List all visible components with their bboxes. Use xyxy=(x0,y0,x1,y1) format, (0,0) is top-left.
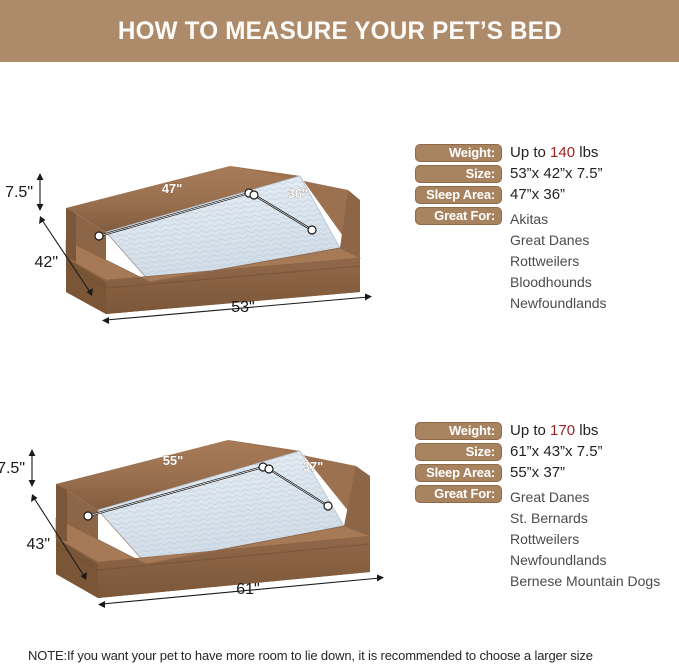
dim-inner-width-label: 47" xyxy=(162,181,183,196)
weight-suffix: lbs xyxy=(575,144,598,161)
product-block-large: 47" 36" 7.5" 42" 53" Weight: xyxy=(0,140,679,330)
spec-row-sleep-area: Sleep Area: 47”x 36” xyxy=(415,186,679,205)
breed-item: Rottweilers xyxy=(510,251,679,272)
spec-label-sleep-area: Sleep Area: xyxy=(415,186,502,204)
dim-inner-width-label: 55" xyxy=(163,453,184,468)
breed-item: Great Danes xyxy=(510,230,679,251)
spec-value-sleep-area: 55”x 37” xyxy=(510,464,565,482)
spec-label-weight: Weight: xyxy=(415,144,502,162)
spec-row-sleep-area: Sleep Area: 55”x 37” xyxy=(415,464,679,483)
spec-panel-large: Weight: Up to 140 lbs Size: 53”x 42”x 7.… xyxy=(415,144,679,314)
footer-note: NOTE:If you want your pet to have more r… xyxy=(28,648,593,663)
weight-prefix: Up to xyxy=(510,144,550,161)
breed-item: Great Danes xyxy=(510,487,679,508)
dim-height-label: 7.5" xyxy=(5,184,33,201)
breed-item: Rottweilers xyxy=(510,529,679,550)
dim-width-label: 61" xyxy=(236,581,259,598)
spec-row-weight: Weight: Up to 140 lbs xyxy=(415,144,679,163)
breed-item: St. Bernards xyxy=(510,508,679,529)
spec-label-size: Size: xyxy=(415,165,502,183)
spec-label-weight: Weight: xyxy=(415,422,502,440)
product-block-xlarge: 55" 37" 7.5" 43" 61" Weight: xyxy=(0,418,679,608)
dim-depth-label: 42" xyxy=(35,254,58,271)
breed-list-xlarge: Great Danes St. Bernards Rottweilers New… xyxy=(510,487,679,592)
spec-value-weight: Up to 140 lbs xyxy=(510,144,598,162)
weight-number: 140 xyxy=(550,144,575,161)
breed-item: Bloodhounds xyxy=(510,272,679,293)
spec-row-size: Size: 61”x 43”x 7.5” xyxy=(415,443,679,462)
dim-height-label: 7.5" xyxy=(0,460,25,477)
weight-prefix: Up to xyxy=(510,422,550,439)
breed-item: Akitas xyxy=(510,209,679,230)
breed-item: Newfoundlands xyxy=(510,550,679,571)
page-header-bar: HOW TO MEASURE YOUR PET’S BED xyxy=(0,0,679,62)
breed-list-large: Akitas Great Danes Rottweilers Bloodhoun… xyxy=(510,209,679,314)
spec-panel-xlarge: Weight: Up to 170 lbs Size: 61”x 43”x 7.… xyxy=(415,422,679,592)
spec-row-weight: Weight: Up to 170 lbs xyxy=(415,422,679,441)
weight-suffix: lbs xyxy=(575,422,598,439)
breed-item: Bernese Mountain Dogs xyxy=(510,571,679,592)
spec-value-weight: Up to 170 lbs xyxy=(510,422,598,440)
spec-value-size: 53”x 42”x 7.5” xyxy=(510,165,603,183)
spec-label-sleep-area: Sleep Area: xyxy=(415,464,502,482)
dim-inner-depth-label: 36" xyxy=(288,186,309,201)
dim-width-label: 53" xyxy=(231,299,254,316)
spec-label-size: Size: xyxy=(415,443,502,461)
spec-label-great-for: Great For: xyxy=(415,485,502,503)
weight-number: 170 xyxy=(550,422,575,439)
breed-item: Newfoundlands xyxy=(510,293,679,314)
spec-value-size: 61”x 43”x 7.5” xyxy=(510,443,603,461)
spec-label-great-for: Great For: xyxy=(415,207,502,225)
spec-row-size: Size: 53”x 42”x 7.5” xyxy=(415,165,679,184)
bed-illustration-xlarge: 55" 37" 7.5" 43" 61" xyxy=(0,418,410,608)
spec-value-sleep-area: 47”x 36” xyxy=(510,186,565,204)
dim-depth-label: 43" xyxy=(27,536,50,553)
dim-inner-depth-label: 37" xyxy=(303,459,324,474)
bed-illustration-large: 47" 36" 7.5" 42" 53" xyxy=(0,140,410,330)
page-title: HOW TO MEASURE YOUR PET’S BED xyxy=(118,17,562,46)
